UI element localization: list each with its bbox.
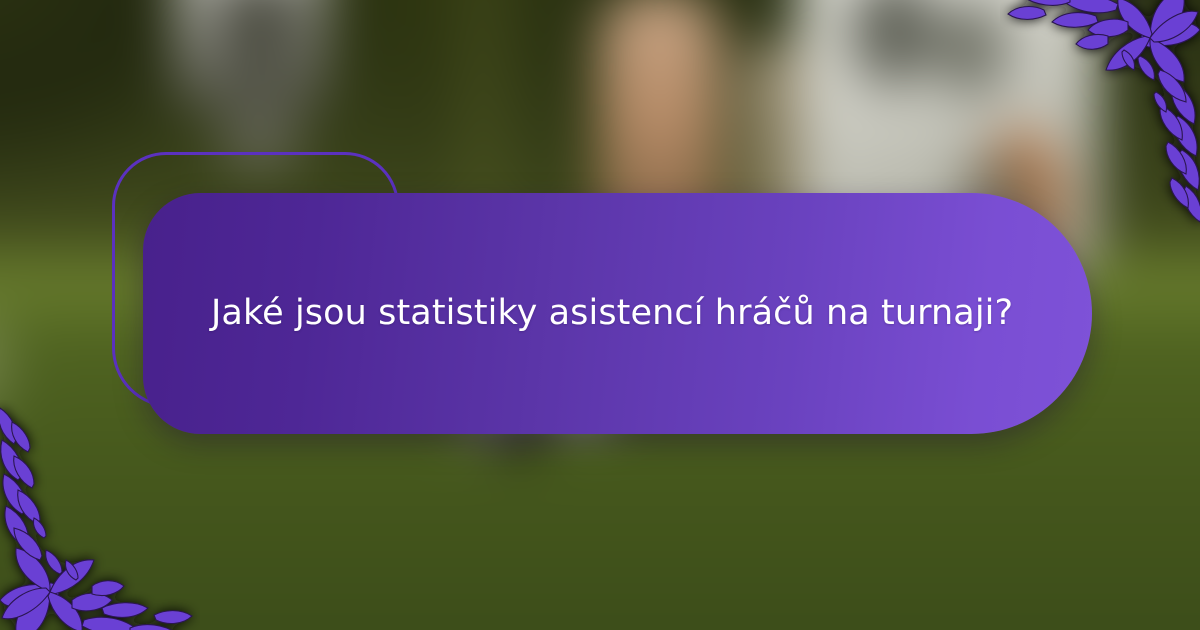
background-blur-goalpost-shadow — [220, 0, 300, 170]
question-card[interactable]: Jaké jsou statistiky asistencí hráčů na … — [143, 193, 1092, 434]
background-blur-dark-spot-two — [935, 0, 1007, 96]
background-blur-pillar — [460, 0, 506, 220]
question-text: Jaké jsou statistiky asistencí hráčů na … — [211, 292, 1013, 336]
screenshot-canvas: Jaké jsou statistiky asistencí hráčů na … — [0, 0, 1200, 630]
